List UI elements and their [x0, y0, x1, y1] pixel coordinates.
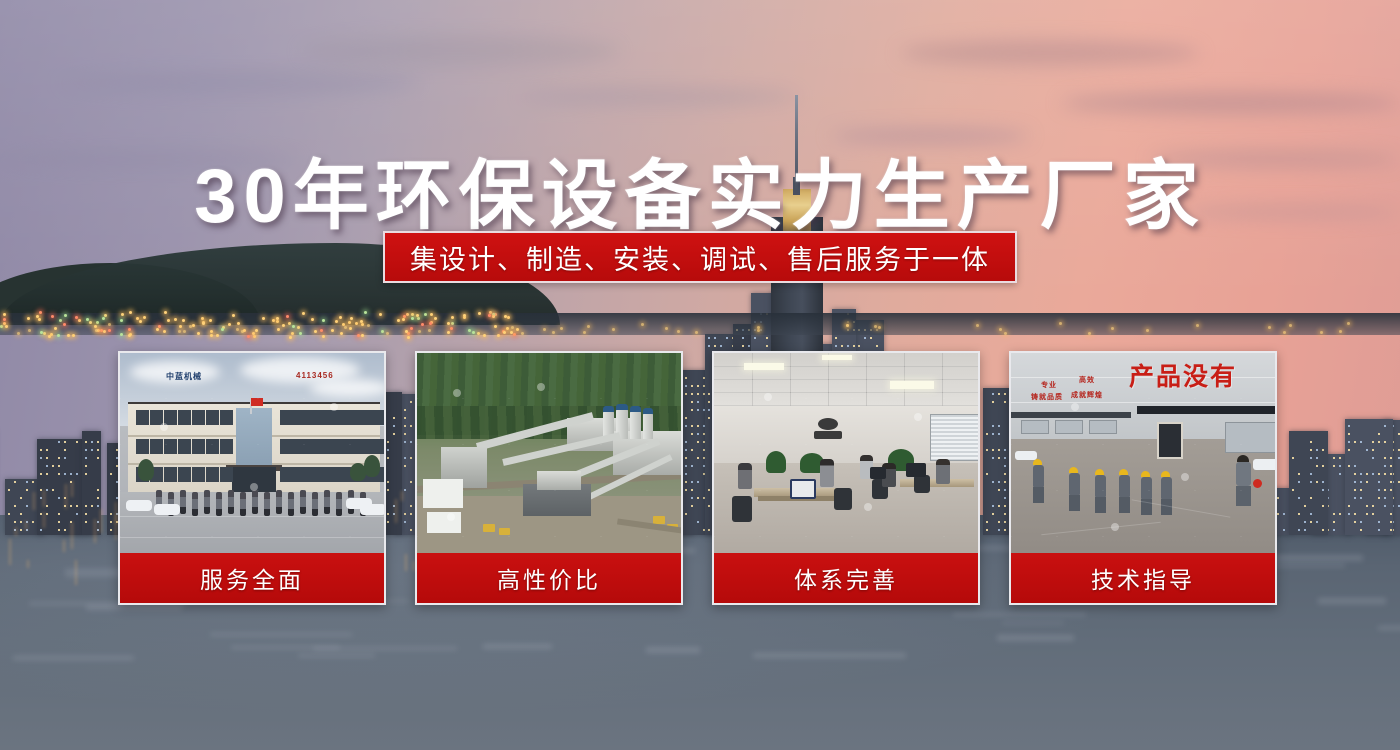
shore-light	[86, 318, 89, 321]
worker-figure	[1161, 471, 1172, 515]
shore-light	[488, 314, 491, 317]
water-reflection	[25, 521, 27, 530]
shore-light	[228, 323, 231, 326]
water-glint	[13, 656, 134, 660]
water-reflection	[100, 509, 102, 533]
skyline-building	[82, 431, 101, 535]
shore-light	[348, 321, 351, 324]
shore-light	[386, 332, 389, 335]
water-reflection	[27, 560, 29, 568]
water-glint	[1318, 598, 1386, 604]
shore-light	[27, 317, 30, 320]
shore-light	[521, 332, 524, 335]
shore-light	[418, 330, 421, 333]
shore-light	[1088, 332, 1091, 335]
shore-light	[322, 335, 325, 338]
shore-light	[182, 319, 185, 322]
shore-light	[210, 334, 213, 337]
shore-light	[406, 313, 409, 316]
shore-light	[96, 321, 99, 324]
water-glint	[86, 605, 182, 610]
wall-slogan-small: 成就辉煌	[1071, 390, 1103, 400]
shore-light	[402, 318, 405, 321]
shore-light	[416, 314, 419, 317]
shore-light	[272, 319, 275, 322]
shore-light	[677, 330, 680, 333]
shore-light	[39, 311, 42, 314]
shore-light	[367, 324, 370, 327]
shore-light	[350, 317, 353, 320]
shore-light	[72, 334, 75, 337]
shore-light	[94, 325, 97, 328]
shore-light	[424, 313, 427, 316]
shore-light	[477, 332, 480, 335]
shore-light	[89, 321, 92, 324]
staff-figure	[324, 490, 330, 514]
staff-figure	[264, 492, 270, 516]
staff-figure	[192, 492, 198, 516]
shore-light	[197, 332, 200, 335]
shore-light	[430, 313, 433, 316]
subtitle-text: 集设计、制造、安装、调试、售后服务于一体	[385, 233, 1015, 281]
feature-card-value[interactable]: 高性价比	[415, 351, 683, 605]
shore-light	[108, 329, 111, 332]
shore-light	[0, 325, 3, 328]
shore-light	[560, 327, 563, 330]
shore-light	[202, 322, 205, 325]
cloud-wisp	[60, 72, 420, 94]
shore-light	[478, 312, 481, 315]
promo-banner: 30年环保设备实力生产厂家 集设计、制造、安装、调试、售后服务于一体	[0, 0, 1400, 750]
shore-light	[417, 317, 420, 320]
staff-figure	[216, 492, 222, 516]
shore-light	[497, 334, 500, 337]
office-interior-staff-photo	[714, 353, 978, 557]
shore-light	[1059, 322, 1062, 325]
shore-light	[1339, 330, 1342, 333]
shore-light	[129, 311, 132, 314]
shore-light	[299, 332, 302, 335]
shore-light	[361, 323, 364, 326]
shore-light	[411, 317, 414, 320]
card-caption: 技术指导	[1011, 553, 1275, 603]
shore-light	[28, 329, 31, 332]
staff-figure	[228, 490, 234, 514]
shore-light	[252, 332, 255, 335]
shore-light	[492, 315, 495, 318]
shore-light	[178, 330, 181, 333]
water-reflection	[71, 481, 73, 497]
shore-light	[504, 315, 507, 318]
worker-figure	[1141, 471, 1152, 515]
factory-door	[1157, 422, 1183, 459]
wall-slogan-small: 高效	[1079, 375, 1095, 385]
shore-light	[451, 322, 454, 325]
staff-figure	[336, 492, 342, 516]
water-reflection	[94, 519, 96, 543]
shore-light	[463, 314, 466, 317]
shore-light	[121, 313, 124, 316]
shore-light	[320, 329, 323, 332]
shore-light	[360, 320, 363, 323]
shore-light	[361, 334, 364, 337]
shore-light	[51, 315, 54, 318]
shore-light	[314, 330, 317, 333]
shore-light	[17, 332, 20, 335]
card-caption: 高性价比	[417, 553, 681, 603]
shore-light	[163, 330, 166, 333]
window-blinds	[930, 414, 978, 461]
shore-light	[405, 330, 408, 333]
shore-light	[288, 322, 291, 325]
shore-light	[3, 318, 6, 321]
worker-figure	[1119, 469, 1130, 513]
shore-light	[331, 329, 334, 332]
shore-light	[322, 319, 325, 322]
shore-light	[364, 311, 367, 314]
shore-light	[289, 336, 292, 339]
shore-light	[36, 315, 39, 318]
cloud-wisp	[1060, 92, 1400, 114]
shore-light	[397, 319, 400, 322]
shore-light	[78, 319, 81, 322]
shore-light	[192, 324, 195, 327]
shore-light	[59, 319, 62, 322]
shore-light	[292, 325, 295, 328]
cloud-wisp	[900, 40, 1200, 66]
worker-figure	[1033, 459, 1044, 503]
shore-light	[421, 323, 424, 326]
feature-card-service[interactable]: 中蓝机械 4113456	[118, 351, 386, 605]
shore-light	[513, 333, 516, 336]
shore-light	[241, 330, 244, 333]
shore-light	[340, 332, 343, 335]
shore-light	[201, 317, 204, 320]
shore-light	[174, 318, 177, 321]
water-reflection	[71, 522, 73, 549]
staff-figure	[252, 490, 258, 514]
shore-light	[179, 325, 182, 328]
shore-light	[128, 328, 131, 331]
shore-light	[511, 326, 514, 329]
shore-light	[429, 322, 432, 325]
shore-light	[483, 334, 486, 337]
shore-light	[335, 320, 338, 323]
shore-light	[103, 330, 106, 333]
water-reflection	[43, 490, 45, 507]
water-reflection	[9, 539, 11, 565]
shore-light	[999, 328, 1002, 331]
staff-figure	[300, 490, 306, 514]
wall-slogan-small: 铸就品质	[1031, 392, 1063, 402]
shore-light	[1146, 329, 1149, 332]
shore-light	[874, 325, 877, 328]
shore-light	[236, 328, 239, 331]
shore-light	[1111, 327, 1114, 330]
shore-light	[247, 335, 250, 338]
water-glint	[953, 613, 1086, 616]
shore-light	[64, 314, 67, 317]
shore-light	[428, 329, 431, 332]
shore-light	[381, 330, 384, 333]
shore-light	[286, 315, 289, 318]
shore-light	[411, 313, 414, 316]
shore-light	[1268, 326, 1271, 329]
shore-light	[277, 328, 280, 331]
card-caption: 服务全面	[120, 553, 384, 603]
shore-light	[183, 330, 186, 333]
shore-light	[255, 329, 258, 332]
aerial-factory-plant-photo	[417, 353, 681, 557]
shore-light	[297, 326, 300, 329]
shore-light	[1347, 322, 1350, 325]
wall-slogan-small: 专业	[1041, 380, 1057, 390]
water-glint	[997, 635, 1074, 641]
shore-light	[665, 327, 668, 330]
shore-light	[95, 329, 98, 332]
shore-light	[344, 326, 347, 329]
shore-light	[349, 327, 352, 330]
shore-light	[552, 331, 555, 334]
water-reflection	[33, 492, 35, 510]
water-reflection	[15, 527, 17, 536]
shore-light	[407, 336, 410, 339]
shore-light	[1289, 324, 1292, 327]
water-glint	[483, 644, 552, 649]
shore-light	[451, 316, 454, 319]
shore-light	[282, 324, 285, 327]
shore-light	[379, 313, 382, 316]
shore-light	[1320, 331, 1323, 334]
shore-light	[1004, 332, 1007, 335]
feature-card-guidance[interactable]: 产品没有 专业 铸就品质 高效 成就辉煌	[1009, 351, 1277, 605]
shore-light	[232, 314, 235, 317]
water-glint	[646, 647, 700, 653]
shore-light	[357, 334, 360, 337]
workers-training-photo: 产品没有 专业 铸就品质 高效 成就辉煌	[1011, 353, 1275, 557]
shore-light	[143, 316, 146, 319]
shore-light	[40, 331, 43, 334]
shore-light	[164, 311, 167, 314]
shore-light	[494, 325, 497, 328]
shore-light	[209, 319, 212, 322]
water-reflection	[65, 484, 67, 509]
shore-light	[5, 325, 8, 328]
shore-light	[237, 322, 240, 325]
shore-light	[75, 316, 78, 319]
shore-light	[291, 332, 294, 335]
national-flag	[251, 398, 263, 406]
staff-figure	[288, 492, 294, 516]
shore-light	[221, 328, 224, 331]
building-phone-text: 4113456	[296, 371, 334, 380]
water-glint	[231, 646, 340, 649]
shore-light	[108, 323, 111, 326]
shore-light	[54, 327, 57, 330]
shore-light	[846, 324, 849, 327]
shore-light	[587, 325, 590, 328]
shore-light	[216, 334, 219, 337]
staff-figure	[204, 490, 210, 514]
shore-light	[276, 320, 279, 323]
shore-light	[189, 325, 192, 328]
skyline-building	[1345, 419, 1393, 535]
water-reflection	[43, 512, 45, 528]
shore-light	[410, 327, 413, 330]
shore-light	[447, 331, 450, 334]
shore-light	[695, 331, 698, 334]
staff-figure	[312, 492, 318, 516]
shore-light	[120, 333, 123, 336]
cloud-wisp	[300, 36, 620, 66]
worker-figure	[1095, 469, 1106, 513]
shore-light	[450, 327, 453, 330]
shore-light	[339, 316, 342, 319]
shore-light	[67, 334, 70, 337]
water-glint	[753, 653, 906, 658]
water-glint	[298, 654, 375, 657]
shore-light	[976, 324, 979, 327]
shore-light	[102, 317, 105, 320]
shore-light	[355, 322, 358, 325]
shore-light	[156, 328, 159, 331]
shore-light	[507, 316, 510, 319]
shore-light	[543, 328, 546, 331]
shore-light	[276, 317, 279, 320]
company-office-building-photo: 中蓝机械 4113456	[120, 353, 384, 557]
shore-light	[472, 331, 475, 334]
shore-light	[612, 328, 615, 331]
shore-light	[139, 320, 142, 323]
shore-light	[583, 331, 586, 334]
cloud-wisp	[520, 88, 800, 106]
shore-light	[447, 322, 450, 325]
skyline-building	[1289, 431, 1328, 535]
subtitle-banner: 集设计、制造、安装、调试、售后服务于一体	[383, 231, 1017, 283]
shore-light	[43, 332, 46, 335]
shore-light	[468, 329, 471, 332]
shore-light	[641, 323, 644, 326]
shore-light	[262, 317, 265, 320]
shore-light	[434, 317, 437, 320]
shore-light	[878, 326, 881, 329]
page-title: 30年环保设备实力生产厂家	[0, 134, 1400, 244]
shore-light	[506, 327, 509, 330]
shore-light	[120, 319, 123, 322]
shore-light	[48, 335, 51, 338]
shore-light	[63, 323, 66, 326]
shore-light	[210, 330, 213, 333]
shore-light	[167, 319, 170, 322]
shore-light	[3, 313, 6, 316]
water-reflection	[115, 502, 117, 524]
wall-slogan-large: 产品没有	[1129, 357, 1237, 393]
shore-light	[57, 334, 60, 337]
worker-figure	[1069, 467, 1080, 511]
water-glint	[1273, 555, 1363, 561]
water-glint	[1378, 626, 1400, 630]
shore-light	[510, 331, 513, 334]
water-reflection	[63, 540, 65, 552]
staff-figure	[180, 490, 186, 514]
building-sign-text: 中蓝机械	[166, 371, 202, 382]
shore-light	[757, 329, 760, 332]
shore-light	[253, 335, 256, 338]
shore-light	[128, 334, 131, 337]
shore-light	[1196, 324, 1199, 327]
feature-card-list: 中蓝机械 4113456	[118, 351, 1282, 605]
shore-light	[757, 326, 760, 329]
water-glint	[210, 633, 352, 636]
staff-figure	[276, 490, 282, 514]
shore-light	[503, 331, 506, 334]
feature-card-system[interactable]: 体系完善	[712, 351, 980, 605]
shore-light	[1283, 331, 1286, 334]
shore-light	[516, 328, 519, 331]
card-caption: 体系完善	[714, 553, 978, 603]
shore-light	[302, 312, 305, 315]
staff-figure	[240, 492, 246, 516]
shore-light	[311, 318, 314, 321]
shore-light	[38, 318, 41, 321]
water-glint	[1002, 622, 1064, 624]
